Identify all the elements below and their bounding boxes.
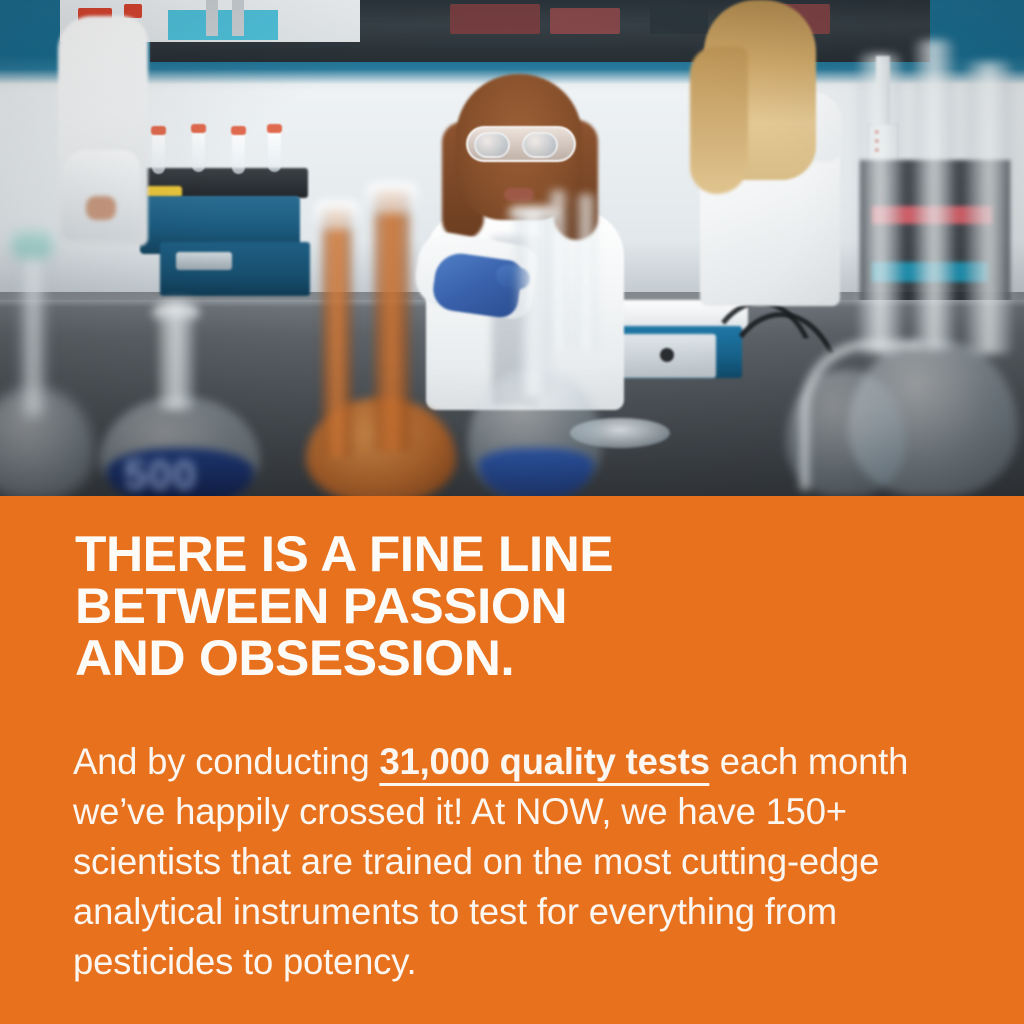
headline-line-2: BETWEEN PASSION bbox=[75, 580, 981, 632]
body-text-before: And by conducting bbox=[73, 741, 379, 782]
body-copy: And by conducting 31,000 quality tests e… bbox=[73, 737, 960, 987]
headline-line-1: THERE IS A FINE LINE bbox=[75, 528, 981, 580]
quality-tests-emphasis: 31,000 quality tests bbox=[379, 741, 709, 786]
page-title: THERE IS A FINE LINE BETWEEN PASSION AND… bbox=[75, 528, 981, 684]
laboratory-photo: 500 bbox=[0, 0, 1024, 496]
headline-line-3: AND OBSESSION. bbox=[75, 632, 981, 684]
social-media-poster: 500 THERE IS A FINE LINE BETWEEN PASSION… bbox=[0, 0, 1024, 1024]
photo-vignette bbox=[0, 0, 1024, 496]
